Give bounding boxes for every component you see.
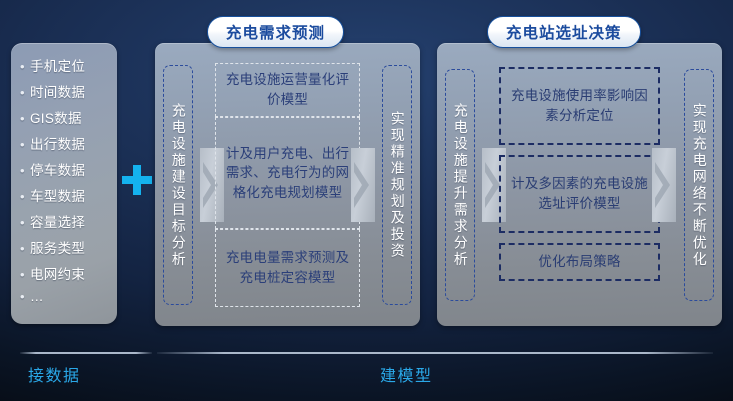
bullet-icon: •: [20, 60, 30, 73]
list-item: • 容量选择: [20, 211, 111, 237]
model-box: 充电电量需求预测及充电桩定容模型: [215, 229, 360, 307]
phase-divider-model: [157, 352, 713, 354]
phase-divider-data: [20, 352, 152, 354]
bullet-icon: •: [20, 290, 30, 303]
model-box: 计及用户充电、出行需求、充电行为的网格化充电规划模型: [215, 117, 360, 229]
plus-vertical-bar: [133, 165, 141, 195]
bullet-icon: •: [20, 112, 30, 125]
bullet-icon: •: [20, 138, 30, 151]
stage-output-label: 实现充电网络不断优化: [691, 103, 706, 268]
bullet-icon: •: [20, 86, 30, 99]
phase-label-data: 接数据: [28, 362, 81, 386]
stage-panel-demand: 充电设施建设目标分析 充电设施运营量化评价模型 计及用户充电、出行需求、充电行为…: [155, 43, 420, 326]
model-box: 充电设施运营量化评价模型: [215, 63, 360, 117]
stage-input-label: 充电设施建设目标分析: [170, 103, 185, 268]
list-item-label: 停车数据: [30, 159, 85, 179]
stage-input-label: 充电设施提升需求分析: [452, 103, 467, 268]
model-box: 优化布局策略: [499, 243, 660, 281]
bullet-icon: •: [20, 190, 30, 203]
model-box: 充电设施使用率影响因素分析定位: [499, 67, 660, 145]
list-item-label: 容量选择: [30, 211, 85, 231]
list-item: • 车型数据: [20, 185, 111, 211]
list-item: • 电网约束: [20, 263, 111, 289]
list-item-label: 车型数据: [30, 185, 85, 205]
list-item-label: 服务类型: [30, 237, 85, 257]
chevron-right-icon: [652, 148, 676, 222]
model-box-column-demand: 充电设施运营量化评价模型 计及用户充电、出行需求、充电行为的网格化充电规划模型 …: [215, 63, 360, 308]
stage-input-site: 充电设施提升需求分析: [445, 69, 475, 301]
stage-output-site: 实现充电网络不断优化: [684, 69, 714, 301]
model-box-column-site: 充电设施使用率影响因素分析定位 计及多因素的充电设施选址评价模型 优化布局策略: [499, 67, 660, 304]
list-item: • 出行数据: [20, 133, 111, 159]
list-item: • 停车数据: [20, 159, 111, 185]
list-item: • 服务类型: [20, 237, 111, 263]
stage-output-demand: 实现精准规划及投资: [382, 65, 412, 305]
bullet-icon: •: [20, 164, 30, 177]
phase-footer: 接数据 建模型: [0, 340, 733, 401]
bullet-icon: •: [20, 216, 30, 229]
stage-panel-site: 充电设施提升需求分析 充电设施使用率影响因素分析定位 计及多因素的充电设施选址评…: [437, 43, 722, 326]
list-item-label: 电网约束: [30, 263, 85, 283]
stage-output-label: 实现精准规划及投资: [389, 111, 404, 260]
list-item: • GIS数据: [20, 107, 111, 133]
list-item: • …: [20, 289, 111, 315]
list-item-label: GIS数据: [30, 107, 82, 127]
phase-label-model: 建模型: [380, 362, 433, 386]
bullet-icon: •: [20, 242, 30, 255]
chevron-right-icon: [351, 148, 375, 222]
stage-title-demand: 充电需求预测: [207, 16, 344, 48]
architecture-diagram: • 手机定位 • 时间数据 • GIS数据 • 出行数据 • 停车数据 • 车型…: [0, 0, 733, 340]
list-item: • 时间数据: [20, 81, 111, 107]
bullet-icon: •: [20, 268, 30, 281]
list-item-label: 出行数据: [30, 133, 85, 153]
list-item-label: 时间数据: [30, 81, 85, 101]
list-item-label: …: [30, 289, 44, 304]
stage-input-demand: 充电设施建设目标分析: [163, 65, 193, 305]
model-box: 计及多因素的充电设施选址评价模型: [499, 155, 660, 233]
list-item-label: 手机定位: [30, 55, 85, 75]
plus-icon: [120, 163, 154, 197]
list-item: • 手机定位: [20, 55, 111, 81]
stage-title-site: 充电站选址决策: [487, 16, 641, 48]
data-sources-panel: • 手机定位 • 时间数据 • GIS数据 • 出行数据 • 停车数据 • 车型…: [11, 43, 117, 324]
